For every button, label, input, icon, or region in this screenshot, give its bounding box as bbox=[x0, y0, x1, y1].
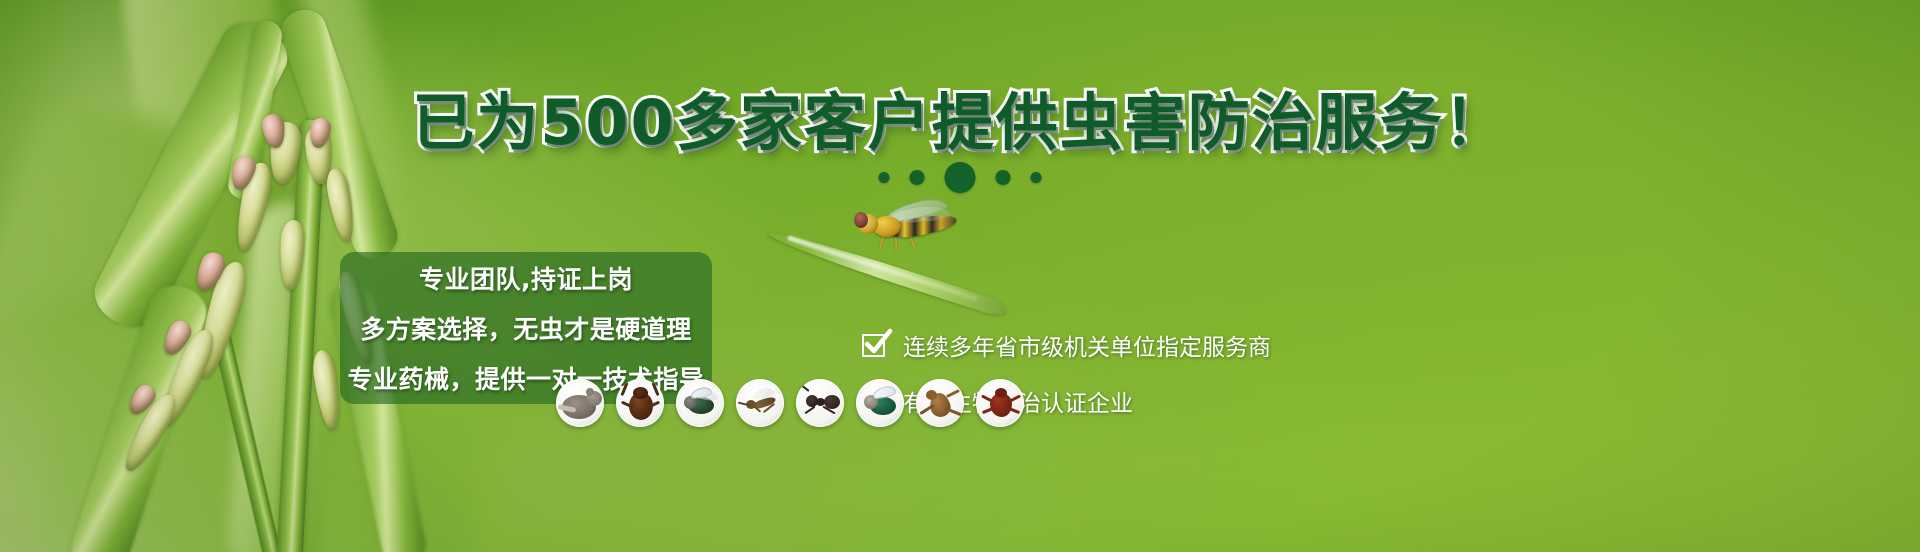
pest-icon-cockroach[interactable] bbox=[616, 379, 664, 427]
highlight-line-2: 多方案选择，无虫才是硬道理 bbox=[360, 310, 692, 346]
credential-item-1: 连续多年省市级机关单位指定服务商 bbox=[862, 328, 1271, 362]
credential-label-1: 连续多年省市级机关单位指定服务商 bbox=[903, 328, 1271, 362]
dot-large-icon bbox=[945, 162, 976, 193]
decorative-dots bbox=[879, 162, 1042, 193]
dot-small-icon bbox=[879, 172, 890, 183]
dot-medium-icon bbox=[910, 170, 925, 185]
highlight-line-1: 专业团队,持证上岗 bbox=[419, 260, 633, 296]
pest-icon-mouse[interactable] bbox=[556, 379, 604, 427]
pest-icon-fly[interactable] bbox=[676, 379, 724, 427]
pest-icon-blowfly[interactable] bbox=[856, 379, 904, 427]
pest-icon-row bbox=[556, 379, 1024, 427]
checkbox-checked-icon bbox=[862, 332, 889, 359]
pest-icon-flea[interactable] bbox=[916, 379, 964, 427]
pest-icon-bedbug[interactable] bbox=[976, 379, 1024, 427]
pest-control-hero-banner: 已为500多家客户提供虫害防治服务！ 专业团队,持证上岗 多方案选择，无虫才是硬… bbox=[0, 0, 1920, 552]
dot-medium-2-icon bbox=[996, 170, 1011, 185]
pest-icon-mosquito[interactable] bbox=[736, 379, 784, 427]
pest-icon-ant[interactable] bbox=[796, 379, 844, 427]
dot-small-2-icon bbox=[1031, 172, 1042, 183]
page-title: 已为500多家客户提供虫害防治服务！ bbox=[0, 72, 1920, 162]
